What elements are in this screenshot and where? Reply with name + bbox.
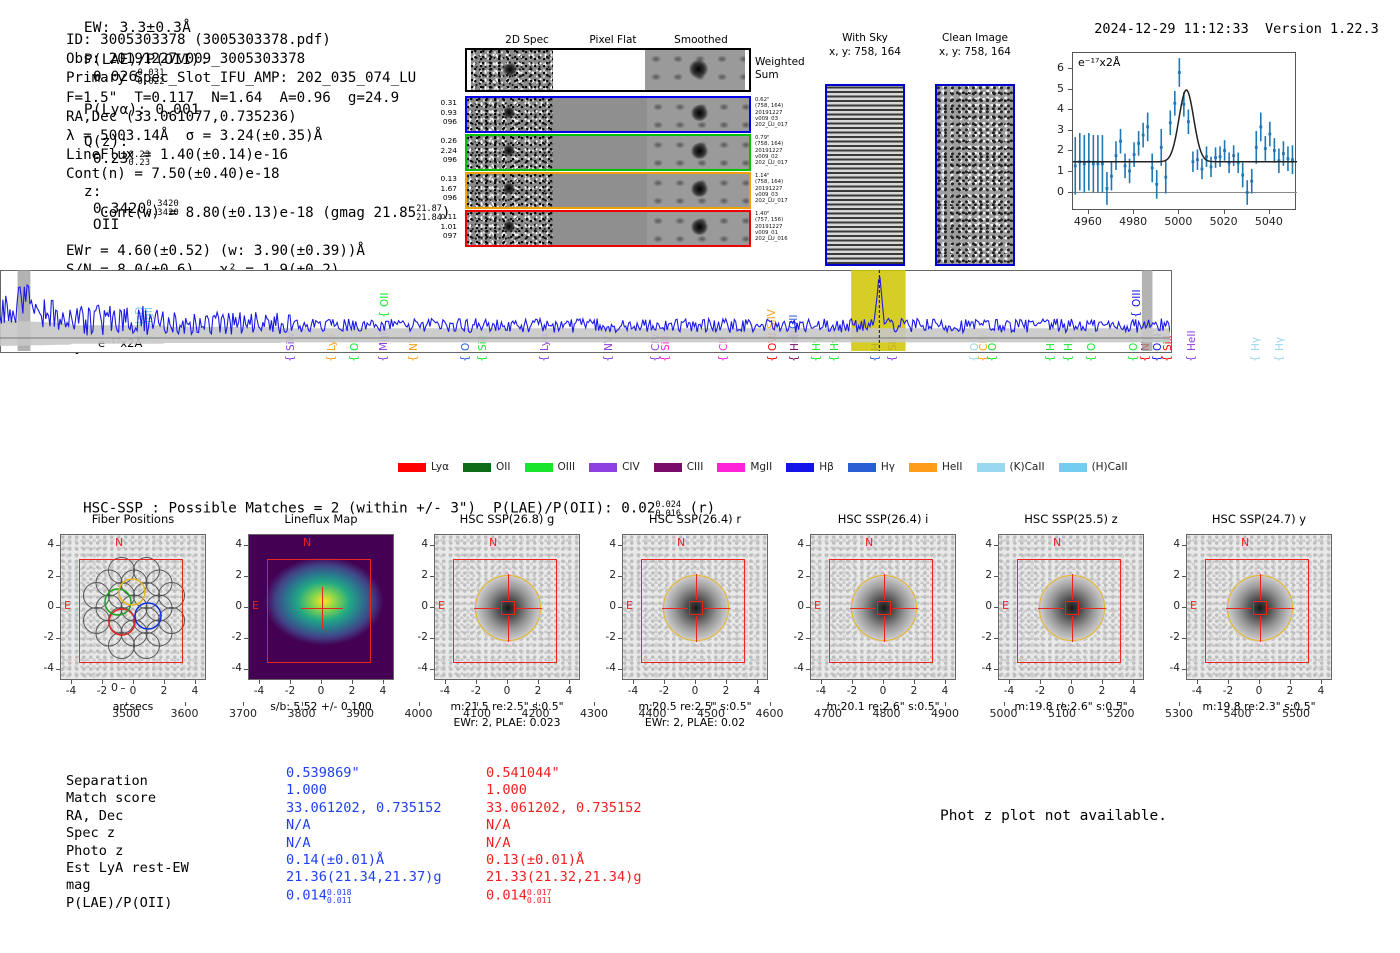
matches-col1-value: 0.14(±0.01)Å [286,852,384,869]
cutout-ytick [1182,669,1186,670]
cutout-caption: m:20.1 re:2.6" s:0.5" [788,700,978,713]
cutout-xticklabel: -4 [621,685,645,697]
cutout-caption: m:19.8 re:2.6" s:0.5" [976,700,1166,713]
cutout-cross-v [696,616,697,642]
cutout-xticklabel: 0 [1247,685,1271,697]
matches-col1-value: 0.539869" [286,765,360,782]
cutout-yticklabel: 4 [222,538,242,550]
line-fit-unit-label: e⁻¹⁷x2Å [1078,56,1120,69]
cutout-yticklabel: -2 [34,631,54,643]
cutout-caption: m:20.5 re:2.5" s:0.5" [600,700,790,713]
line-fit-ytick [1068,109,1072,110]
compass-e-label: E [1002,599,1009,612]
cutout-ytick [244,607,248,608]
spectrum-legend-label: OIII [558,461,576,473]
cutout-cross-v [884,616,885,642]
cutout-xtick [1321,680,1322,684]
spectrum-canvas [0,270,1170,351]
spectrum-legend-item: (K)CaII [977,461,1045,473]
cutout-caption: m:19.8 re:2.3" s:0.5" [1164,700,1354,713]
spectrum-line-bracket: { [716,355,729,362]
spectrum-line-bracket: { [376,355,389,362]
cutout-xtick [821,680,822,684]
cutout-caption: s/b: 5.52 +/- 0.100 [226,700,416,713]
spectrum-line-bracket: { [406,355,419,362]
cutout-xtick [383,680,384,684]
cutout-xticklabel: 0 [495,685,519,697]
cutout-ytick [806,576,810,577]
cutout-xtick [1071,680,1072,684]
cutout-ytick [244,545,248,546]
compass-n-label: N [303,536,311,549]
cutout-yticklabel: 2 [596,569,616,581]
cutout-ytick [1182,638,1186,639]
cutout-caption: m:21.5 re:2.5" s:0.5" [412,700,602,713]
matches-col1-value: N/A [286,835,311,852]
spec2d-row-number: 2.24 [415,146,457,156]
line-fit-xticklabel: 5040 [1253,215,1285,228]
line-fit-xtick [1269,210,1270,214]
spec2d-flat-region [555,136,643,170]
cutout-image-3 [622,534,768,680]
spec2d-row-number: 0.93 [415,108,457,118]
compass-n-label: N [1053,536,1061,549]
cutout-xticklabel: 4 [1309,685,1333,697]
cutout-ytick [618,545,622,546]
cutout-ytick [56,545,60,546]
cutout-ytick [56,669,60,670]
cutout-xtick [1133,680,1134,684]
matches-col2-value: 0.13(±0.01)Å [486,852,584,869]
matches-col2-plae-value: 0.014 [486,887,527,903]
spec2d-row-meta: 0.62"(758, 164)20191227v009_03202_LU_017 [755,97,815,128]
cutout-title: HSC SSP(25.5) z [984,512,1158,526]
spectrum-legend: LyαOIIOIIICIVCIIIMgIIHβHγHeII(K)CaII(H)C… [398,455,1142,474]
cutout-xtick [569,680,570,684]
cutout-yticklabel: 2 [1160,569,1180,581]
spec2d-title-2dspec: 2D Spec [487,34,567,46]
spectrum-legend-label: (H)CaII [1092,461,1128,473]
spec2d-row-number: 096 [415,117,457,127]
spectrum-legend-chip [1059,463,1087,472]
cutout-xtick [1259,680,1260,684]
cutout-yticklabel: 0 [784,600,804,612]
cutout-cross-h [662,608,688,609]
line-fit-xtick [1224,210,1225,214]
spectrum-line-bracket: { [324,355,337,362]
cutout-xtick [945,680,946,684]
matches-col2-value: 33.061202, 0.735152 [486,800,642,817]
line-fit-canvas [1073,53,1297,211]
with-sky-image [825,84,905,266]
timestamp-version: 2024-12-29 11:12:33 Version 1.22.3 [1078,5,1379,37]
spectrum-legend-item: MgII [717,461,772,473]
cutout-yticklabel: -4 [34,662,54,674]
spec2d-row-number: 1.67 [415,184,457,194]
cutout-cross-h [850,608,876,609]
spec2d-smoothed-blob [691,181,708,197]
cutout-yticklabel: 2 [784,569,804,581]
cutout-xtick [1009,680,1010,684]
cutout-cross-h [516,608,542,609]
cutout-cross-v [508,574,509,600]
spec2d-raw-blob [503,107,515,118]
cutout-ytick [618,638,622,639]
cutout-ytick [244,576,248,577]
cutout-xticklabel: 0 [121,685,145,697]
cutout-yticklabel: 4 [408,538,428,550]
line-fit-yticklabel: 1 [1048,164,1064,177]
cutout-center-box [1065,601,1079,615]
spec2d-flat-region [555,174,643,208]
spec2d-row-meta: 1.14"(758, 164)20191227v009_03202_LU_017 [755,173,815,204]
spec2d-raw-blob [503,145,515,156]
spectrum-line-label: Hγ [1274,337,1286,351]
spec2d-row-number: 0.13 [415,174,457,184]
cutout-ytick [618,607,622,608]
matches-col1-value: 33.061202, 0.735152 [286,800,442,817]
cutout-ytick [994,638,998,639]
spectrum-line-bracket: { [827,355,840,362]
compass-n-label: N [677,536,685,549]
photz-note: Phot z plot not available. [940,808,1167,824]
matches-col2-plae-lo: 0.011 [527,895,552,905]
cutout-yticklabel: 4 [1160,538,1180,550]
cutout-xticklabel: 4 [183,685,207,697]
info-line-radec: RA,Dec (33.061077,0.735236) [66,108,450,127]
spectrum-legend-item: Hγ [848,461,895,473]
spectrum-legend-chip [463,463,491,472]
cutout-yticklabel: 0 [222,600,242,612]
spectrum-legend-item: Hβ [786,461,834,473]
cutout-title: Lineflux Map [234,512,408,526]
matches-col1-plae-lo: 0.011 [327,895,352,905]
line-fit-yticklabel: 3 [1048,123,1064,136]
compass-e-label: E [438,599,445,612]
line-fit-yticklabel: 5 [1048,82,1064,95]
cutout-xticklabel: -4 [1185,685,1209,697]
spec2d-raw-blob [503,221,515,232]
spec2d-row-numbers: 0.131.67096 [415,174,457,203]
cutout-xticklabel: 4 [371,685,395,697]
spec2d-row-meta-line: 202_LU_017 [755,160,815,166]
cutout-xticklabel: 2 [152,685,176,697]
cutout-xtick [133,680,134,684]
cutout-red-box [79,559,183,663]
spectrum-legend-chip [398,463,426,472]
cutout-xtick [852,680,853,684]
cutout-xtick [726,680,727,684]
cutout-xtick [71,680,72,684]
cutout-center-box [501,601,515,615]
info-line-id: ID: 3005303378 (3005303378.pdf) [66,31,450,50]
cutout-xtick [445,680,446,684]
spectrum-line-bracket: { [868,355,881,362]
cutout-xtick [1040,680,1041,684]
spectrum-legend-label: Hγ [881,461,895,473]
clean-image-title: Clean Image [930,32,1020,44]
cutout-xtick [633,680,634,684]
spec2d-row-number: 0.26 [415,136,457,146]
line-fit-xticklabel: 4960 [1072,215,1104,228]
spectrum-line-bracket: { [658,355,671,362]
cutout-xtick [290,680,291,684]
cutout-ytick [806,669,810,670]
cutout-yticklabel: 0 [596,600,616,612]
spectrum-line-bracket: { [347,355,360,362]
spectrum-legend-label: Hβ [819,461,834,473]
spectrum-legend-label: (K)CaII [1010,461,1045,473]
spec2d-title-smoothed: Smoothed [659,34,743,46]
compass-e-label: E [626,599,633,612]
cutout-xtick [1102,680,1103,684]
cutout-cross-v [1072,574,1073,600]
matches-row-label: P(LAE)/P(OII) [66,895,172,912]
matches-row-label: mag [66,877,91,894]
spectrum-line-bracket: { [1160,355,1173,362]
spec2d-panel: 2D Spec Pixel Flat Smoothed Weighted Sum… [463,34,793,249]
cutout-ytick [430,607,434,608]
cutout-title: Fiber Positions [46,512,220,526]
cutout-image-0 [60,534,206,680]
matches-col2-value: 0.541044" [486,765,560,782]
spec2d-row-meta-line: 202_LU_016 [755,236,815,242]
spectrum-legend-chip [848,463,876,472]
cutout-yticklabel: -4 [1160,662,1180,674]
cutout-yticklabel: -4 [972,662,992,674]
spectrum-legend-item: HeII [909,461,963,473]
line-fit-yticklabel: 2 [1048,143,1064,156]
cutout-yticklabel: -2 [1160,631,1180,643]
cutout-yticklabel: -4 [222,662,242,674]
cutout-yticklabel: 2 [408,569,428,581]
spectrum-legend-chip [525,463,553,472]
cutout-yticklabel: -2 [972,631,992,643]
cutout-center-box [1253,601,1267,615]
matches-col1-plae-value: 0.014 [286,887,327,903]
cutout-yticklabel: 2 [34,569,54,581]
line-fit-plot: e⁻¹⁷x2Å 496049805000502050400123456 [1040,48,1302,248]
matches-col2-value: 1.000 [486,782,527,799]
spectrum-line-bracket: { [537,355,550,362]
spectrum-legend-label: Lyα [431,461,449,473]
spectrum-legend-chip [589,463,617,472]
spec2d-smoothed-blob [691,219,708,235]
line-fit-xticklabel: 4980 [1117,215,1149,228]
cutout-xticklabel: -4 [809,685,833,697]
spectrum-legend-item: (H)CaII [1059,461,1128,473]
compass-e-label: E [814,599,821,612]
cutout-image-1 [248,534,394,680]
clean-image-coords: x, y: 758, 164 [922,46,1028,58]
spectrum-legend-label: MgII [750,461,772,473]
cutout-yticklabel: 2 [222,569,242,581]
cutout-yticklabel: -4 [784,662,804,674]
cutout-cross-v [508,616,509,642]
cutout-ytick [1182,607,1186,608]
line-fit-ytick [1068,68,1072,69]
line-fit-ytick [1068,150,1072,151]
cutout-yticklabel: 0 [34,600,54,612]
line-fit-xticklabel: 5000 [1162,215,1194,228]
cutout-cross-h [892,608,918,609]
cutout-yticklabel: 4 [972,538,992,550]
spectrum-legend-chip [909,463,937,472]
spectrum-legend-label: OII [496,461,510,473]
spec2d-row-meta-line: 202_LU_017 [755,198,815,204]
compass-n-label: N [115,536,123,549]
cutout-yticklabel: 0 [972,600,992,612]
cutout-yticklabel: 4 [784,538,804,550]
cutout-xticklabel: 4 [745,685,769,697]
spec2d-smoothed-blob [691,143,708,159]
cutout-xticklabel: -2 [278,685,302,697]
line-fit-xticklabel: 5020 [1208,215,1240,228]
cutout-xtick [476,680,477,684]
cutout-xtick [695,680,696,684]
cutout-yticklabel: 4 [34,538,54,550]
spec2d-row-meta: 0.79"(758, 164)20191227v009_02202_LU_017 [755,135,815,166]
line-fit-xtick [1178,210,1179,214]
cutout-xticklabel: -2 [1216,685,1240,697]
with-sky-coords: x, y: 758, 164 [812,46,918,58]
cutout-xtick [352,680,353,684]
matches-col1-value: 1.000 [286,782,327,799]
line-fit-yticklabel: 0 [1048,185,1064,198]
info-line-contw: Cont(w) = 8.80(±0.13)e-18 (gmag 21.8521.… [66,185,450,243]
cutout-ytick [244,669,248,670]
cutout-xticklabel: -4 [59,685,83,697]
cutout-title: HSC SSP(26.4) r [608,512,782,526]
cutout-image-6 [1186,534,1332,680]
cutout-xtick [757,680,758,684]
spec2d-fiber-strip [465,172,751,209]
cutout-title: HSC SSP(24.7) y [1172,512,1346,526]
cutout-image-2 [434,534,580,680]
matches-col2-value: 21.33(21.32,21.34)g [486,869,642,886]
spec2d-row-numbers: 0.262.24096 [415,136,457,165]
spectrum-line-bracket: { [1248,355,1261,362]
spectrum-line-bracket: { [787,355,800,362]
spec2d-row-number: 0.11 [415,212,457,222]
spectrum-line-bracket: { [1084,355,1097,362]
spec2d-weighted-sum-strip [465,48,751,92]
cutout-xticklabel: 0 [309,685,333,697]
cutout-ytick [618,576,622,577]
spectrum-legend-chip [786,463,814,472]
matches-row-label: Photo z [66,843,123,860]
spec2d-row-meta: 1.40"(757, 156)20191227v009_01202_LU_016 [755,211,815,242]
cutout-cross-v [696,574,697,600]
info-line-params: F=1.5" T=0.117 N=1.64 A=0.96 g=24.9 [66,89,450,108]
cutout-cross-h [704,608,730,609]
info-contw-text: Cont(w) = 8.80(±0.13)e-18 (gmag 21.85 [100,205,416,221]
line-fit-datapoints [1074,58,1294,205]
cutout-title: HSC SSP(26.4) i [796,512,970,526]
cutout-caption-2: EWr: 2, PLAE: 0.02 [600,716,790,729]
spectrum-line-bracket: { [1061,355,1074,362]
matches-col2-value: N/A [486,835,511,852]
info-line-ewr: EWr = 4.60(±0.52) (w: 3.90(±0.39))Å [66,242,450,261]
spectrum-legend-item: OII [463,461,510,473]
cutout-xticklabel: -2 [1028,685,1052,697]
cutout-ytick [56,607,60,608]
cutout-title: HSC SSP(26.8) g [420,512,594,526]
compass-n-label: N [1241,536,1249,549]
cutout-xticklabel: -2 [652,685,676,697]
weighted-sum-label-line2: Sum [755,69,779,81]
cutout-xtick [195,680,196,684]
spec2d-fiber-strip [465,134,751,171]
spectrum-legend-item: Lyα [398,461,449,473]
cutout-caption-2: EWr: 2, PLAE: 0.023 [412,716,602,729]
cutout-ytick [1182,545,1186,546]
spec2d-smoothed-blob [691,105,708,121]
cutout-ytick [806,545,810,546]
matches-col1-plae-frac: 0.0180.011 [327,888,352,905]
cutout-xticklabel: 4 [1121,685,1145,697]
cutout-xticklabel: 0 [871,685,895,697]
spectrum-line-bracket: { [765,355,778,362]
cutout-xtick [664,680,665,684]
cutout-yticklabel: 2 [972,569,992,581]
cutout-ytick [244,638,248,639]
cutout-xtick [914,680,915,684]
matches-col2-value: 0.0140.0170.011 [486,887,551,905]
cutout-xticklabel: 2 [1090,685,1114,697]
cutout-cross-h [1080,608,1106,609]
spectrum-line-bracket: { [601,355,614,362]
spectrum-line-bracket: { [1272,355,1285,362]
cutout-ytick [430,545,434,546]
cutout-xticklabel: -2 [90,685,114,697]
cutout-xtick [259,680,260,684]
compass-e-label: E [64,599,71,612]
cutout-caption: arcsecs [38,700,228,713]
cutout-cross-h [1268,608,1294,609]
cutout-yticklabel: -2 [408,631,428,643]
spec2d-row-number: 096 [415,193,457,203]
cutout-xticklabel: -4 [247,685,271,697]
cutout-xtick [883,680,884,684]
matches-row-label: Match score [66,790,156,807]
spectrum-legend-label: CIII [687,461,704,473]
spec2d-row-numbers: 0.310.93096 [415,98,457,127]
cutout-ytick [618,669,622,670]
cutout-xtick [321,680,322,684]
matches-table: SeparationMatch scoreRA, DecSpec zPhoto … [66,773,766,923]
cutout-xticklabel: 2 [1278,685,1302,697]
cutout-cross-v [1260,616,1261,642]
cutout-yticklabel: 0 [408,600,428,612]
spectrum-legend-chip [977,463,1005,472]
spectrum-line-bracket: { [1138,355,1151,362]
line-fit-yticklabel: 6 [1048,61,1064,74]
cutout-yticklabel: -4 [596,662,616,674]
cutout-yticklabel: 0 [1160,600,1180,612]
cutout-ytick [806,638,810,639]
spectrum-line-label: HeII [1186,330,1198,351]
cutout-xtick [164,680,165,684]
spectrum-line-bracket: { [283,355,296,362]
matches-row-label: RA, Dec [66,808,123,825]
spec2d-raw-blob [503,183,515,194]
matches-col2-value: N/A [486,817,511,834]
cutout-xtick [1228,680,1229,684]
info-line-lambda: λ = 5003.14Å σ = 3.24(±0.35)Å [66,127,450,146]
line-fit-ytick [1068,171,1072,172]
cutout-center-box [877,601,891,615]
